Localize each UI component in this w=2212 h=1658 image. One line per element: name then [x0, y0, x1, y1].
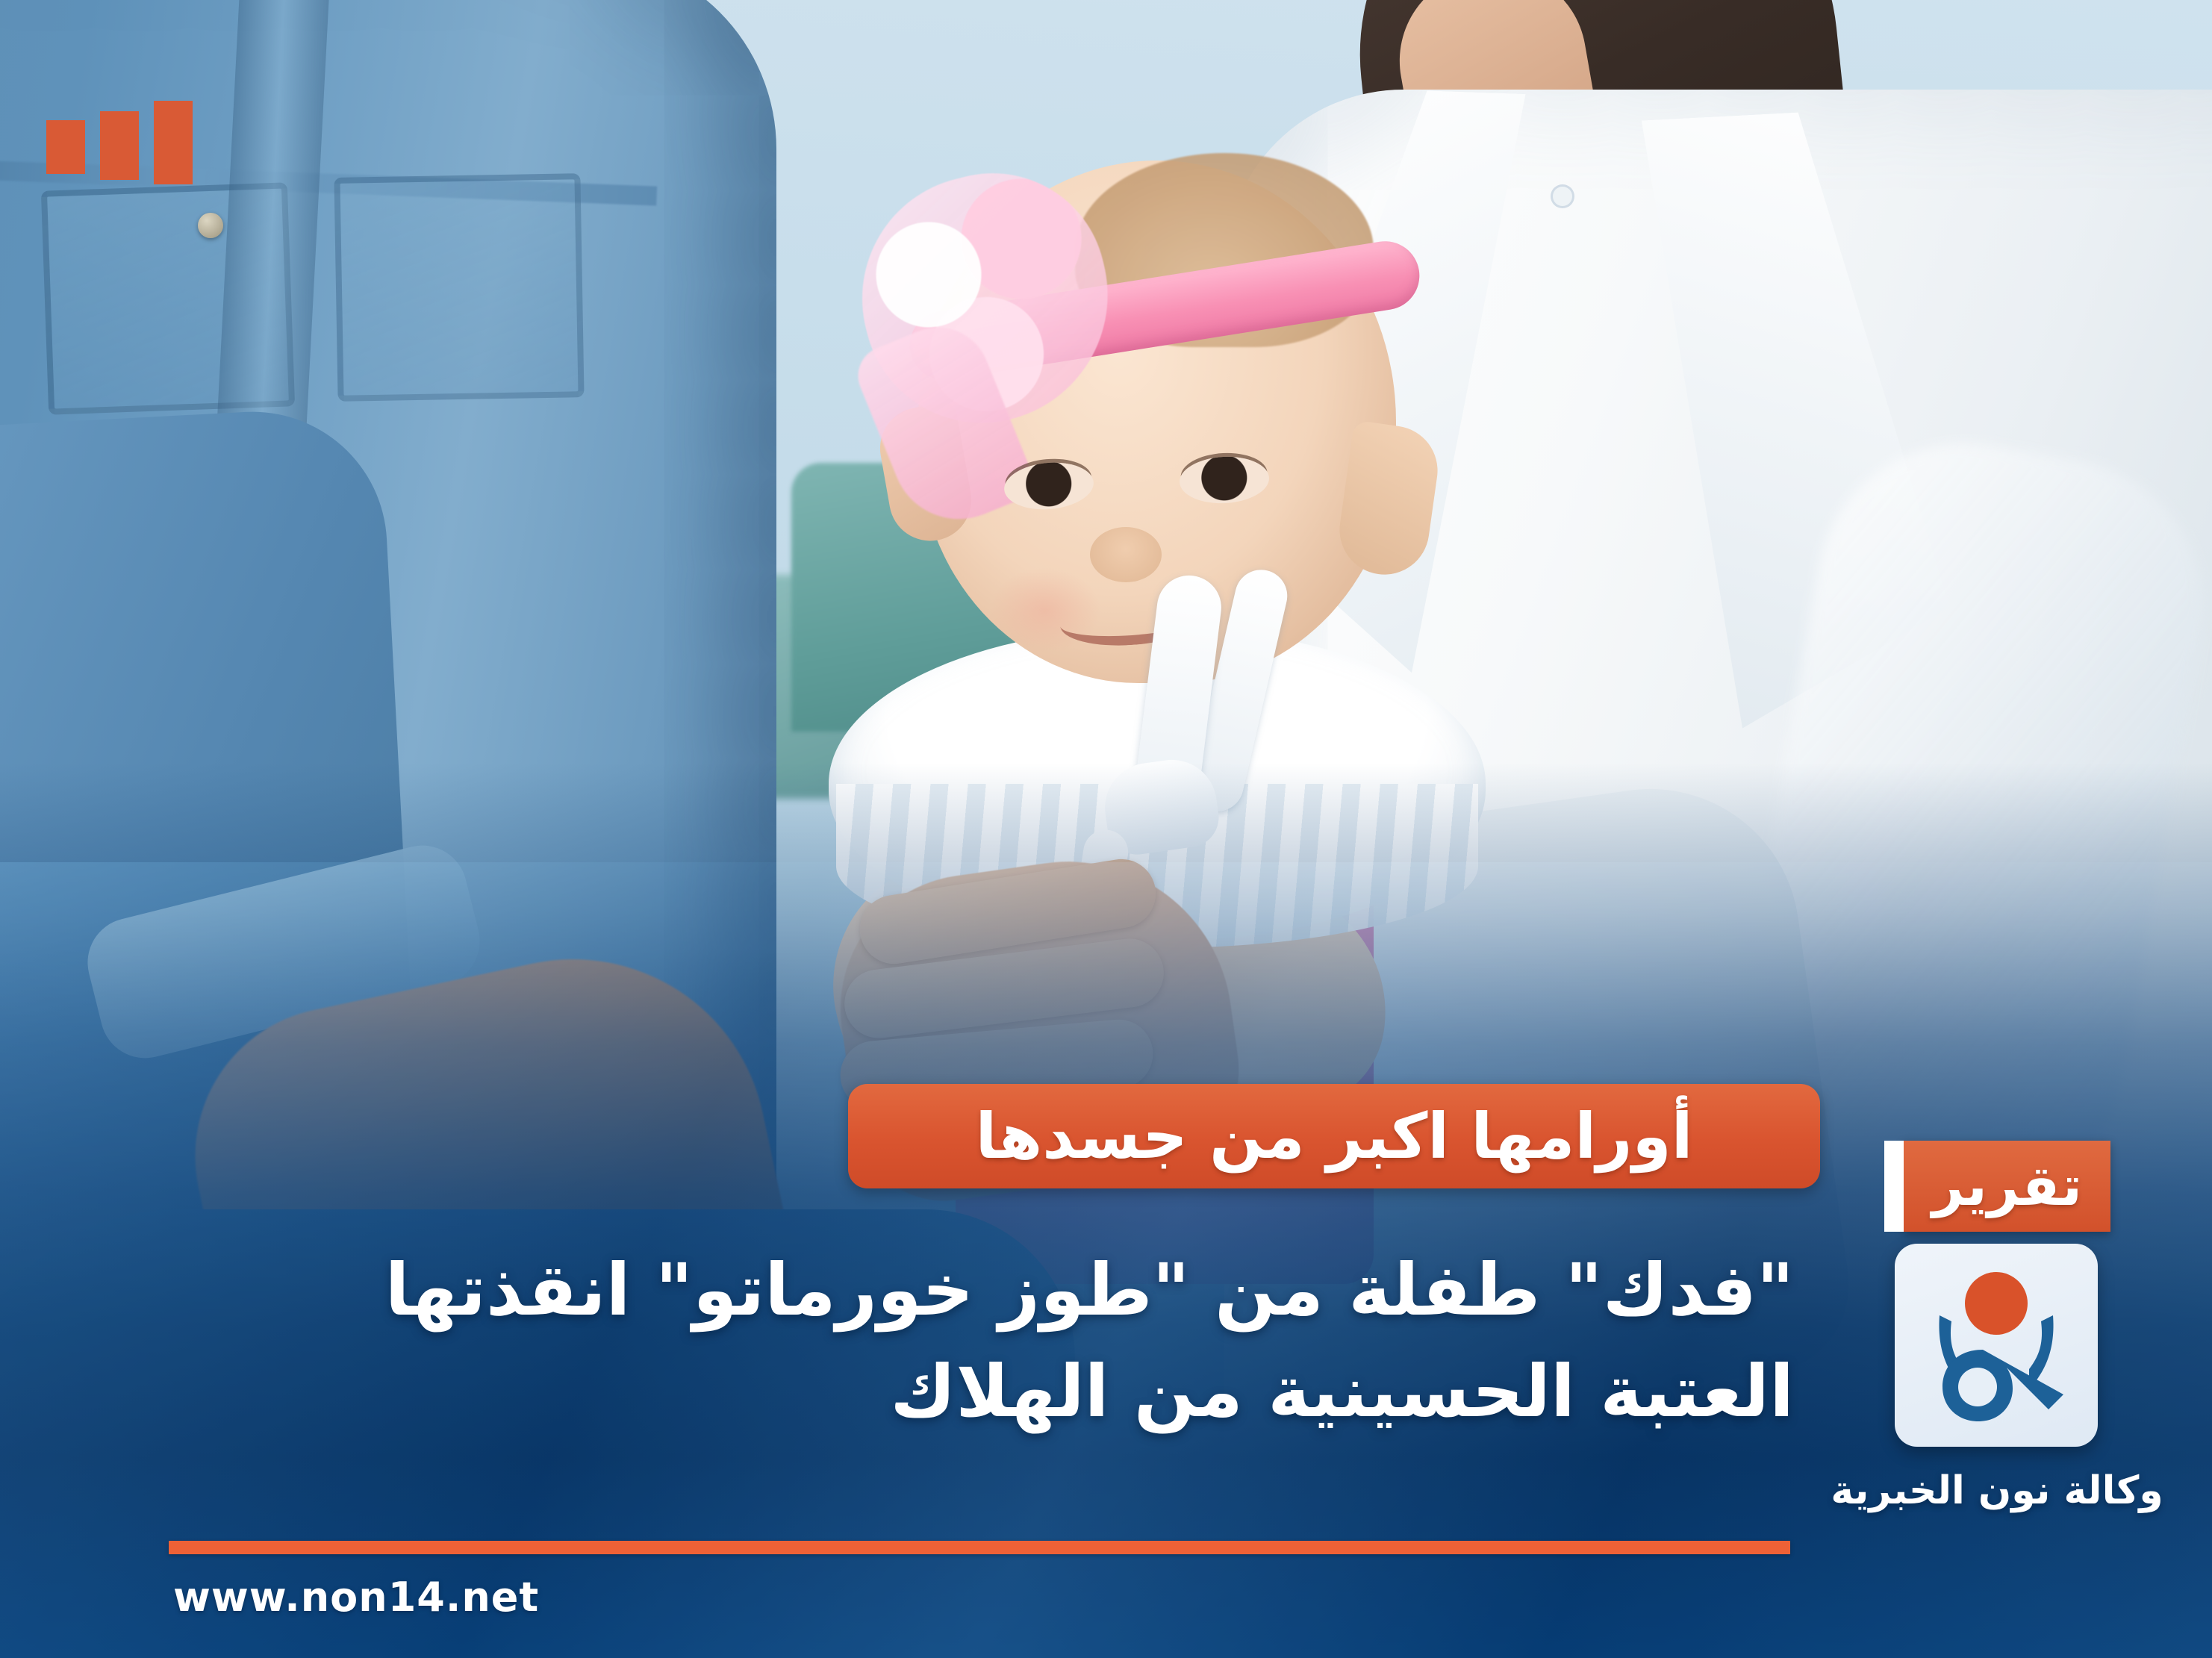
- non-bars-mark-icon: [46, 101, 193, 184]
- headline: "فدك" طفلة من "طوز خورماتو" انقذتها العت…: [159, 1239, 1794, 1443]
- agency-name-label: وكالة نون الخبرية: [1831, 1468, 2163, 1513]
- kicker-text: أورامها اكبر من جسدها: [976, 1105, 1693, 1168]
- agency-name: وكالة نون الخبرية: [1822, 1468, 2172, 1514]
- bar-3: [46, 120, 85, 174]
- news-card: أورامها اكبر من جسدها "فدك" طفلة من "طوز…: [0, 0, 2212, 1658]
- report-badge-label: تقرير: [1932, 1159, 2082, 1214]
- footer-divider: [169, 1541, 1790, 1554]
- website-url-label[interactable]: www.non14.net: [173, 1574, 539, 1621]
- report-badge-box: تقرير: [1904, 1141, 2110, 1232]
- bar-1: [154, 101, 193, 184]
- headline-line-2: العتبة الحسينية من الهلاك: [159, 1341, 1794, 1442]
- report-badge: تقرير: [1884, 1141, 2110, 1232]
- agency-logo-card: [1895, 1244, 2098, 1447]
- report-badge-white-bar: [1884, 1141, 1904, 1232]
- website-url[interactable]: www.non14.net: [173, 1574, 539, 1621]
- logo-glyph-counter-icon: [1958, 1368, 1997, 1406]
- headline-line-1: "فدك" طفلة من "طوز خورماتو" انقذتها: [159, 1239, 1794, 1341]
- logo-head-dot-icon: [1965, 1272, 2028, 1335]
- kicker-banner: أورامها اكبر من جسدها: [848, 1084, 1820, 1188]
- noon-agency-logo-icon: [1895, 1244, 2098, 1447]
- bar-2: [100, 111, 139, 180]
